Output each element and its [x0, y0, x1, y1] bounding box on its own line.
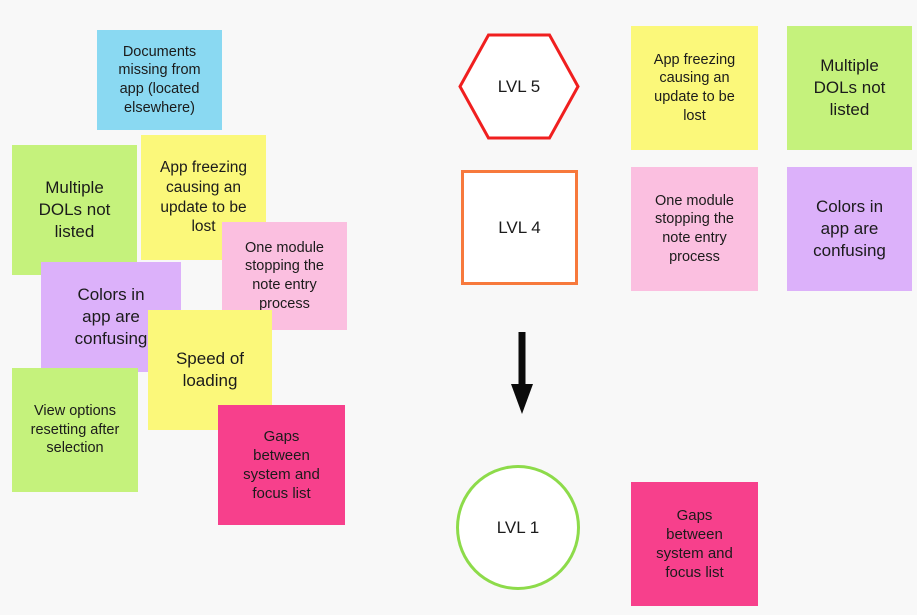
note-view-options-resetting[interactable]: View options resetting after selection — [12, 368, 138, 492]
shape-label: LVL 5 — [458, 33, 580, 140]
note-multiple-dols-left[interactable]: Multiple DOLs not listed — [12, 145, 137, 275]
down-arrow — [507, 332, 537, 414]
shape-label: LVL 1 — [497, 518, 540, 538]
note-colors-confusing-ranked[interactable]: Colors in app are confusing — [787, 167, 912, 291]
shape-lvl-4-square[interactable]: LVL 4 — [461, 170, 578, 285]
note-gaps-left[interactable]: Gaps between system and focus list — [218, 405, 345, 525]
note-multiple-dols-ranked[interactable]: Multiple DOLs not listed — [787, 26, 912, 150]
note-gaps-ranked[interactable]: Gaps between system and focus list — [631, 482, 758, 606]
note-documents-missing[interactable]: Documents missing from app (located else… — [97, 30, 222, 130]
note-app-freezing-ranked[interactable]: App freezing causing an update to be los… — [631, 26, 758, 150]
shape-lvl-1-circle[interactable]: LVL 1 — [456, 465, 580, 590]
whiteboard-canvas: Documents missing from app (located else… — [0, 0, 917, 615]
arrow-down-icon — [507, 332, 537, 414]
shape-lvl-5-hexagon[interactable]: LVL 5 — [458, 33, 580, 140]
shape-label: LVL 4 — [498, 218, 541, 238]
note-one-module-ranked[interactable]: One module stopping the note entry proce… — [631, 167, 758, 291]
